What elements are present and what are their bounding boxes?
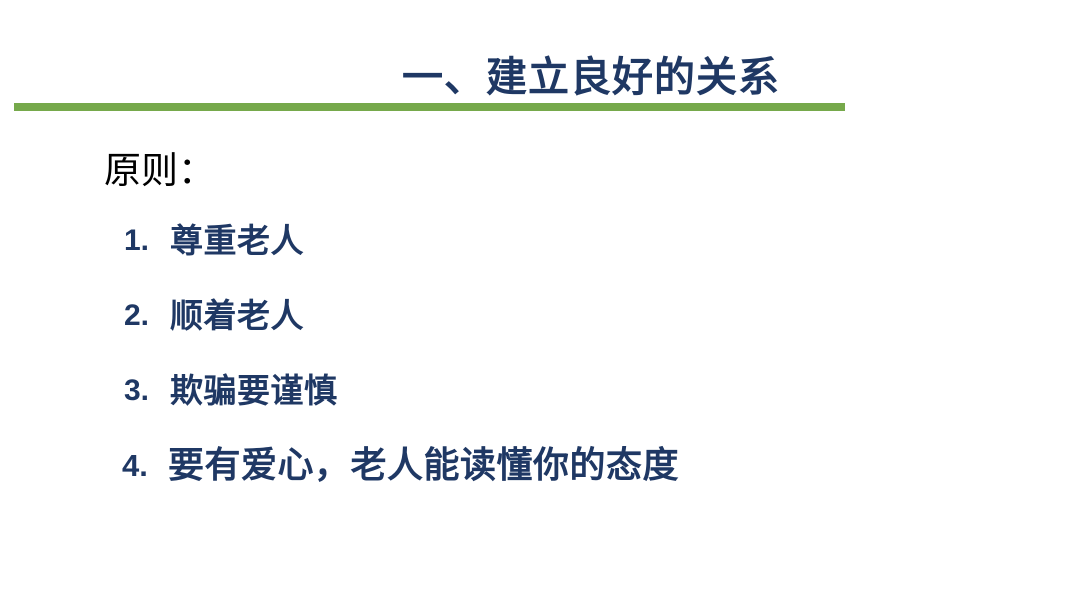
principles-list: 1. 尊重老人 2. 顺着老人 3. 欺骗要谨慎 4. 要有爱心，老人能读懂你的…: [0, 218, 1080, 518]
list-item-label: 欺骗要谨慎: [170, 368, 338, 414]
principles-heading: 原则：: [104, 148, 215, 194]
list-item: 1. 尊重老人: [0, 218, 1080, 293]
list-item-label: 尊重老人: [170, 218, 304, 264]
list-item-number: 4.: [122, 443, 148, 489]
list-item: 3. 欺骗要谨慎: [0, 368, 1080, 443]
list-item-label: 要有爱心，老人能读懂你的态度: [168, 443, 679, 489]
presentation-slide: 一、建立良好的关系 原则： 1. 尊重老人 2. 顺着老人 3. 欺骗要谨慎 4…: [0, 0, 1080, 608]
list-item-number: 2.: [124, 293, 149, 339]
list-item-number: 1.: [124, 218, 149, 264]
list-item-label: 顺着老人: [170, 293, 304, 339]
page-title: 一、建立良好的关系: [0, 52, 800, 102]
slide-title-block: 一、建立良好的关系: [0, 52, 1080, 102]
list-item: 2. 顺着老人: [0, 293, 1080, 368]
list-item: 4. 要有爱心，老人能读懂你的态度: [0, 443, 1080, 518]
title-divider-rule: [14, 103, 845, 111]
list-item-number: 3.: [124, 368, 149, 414]
